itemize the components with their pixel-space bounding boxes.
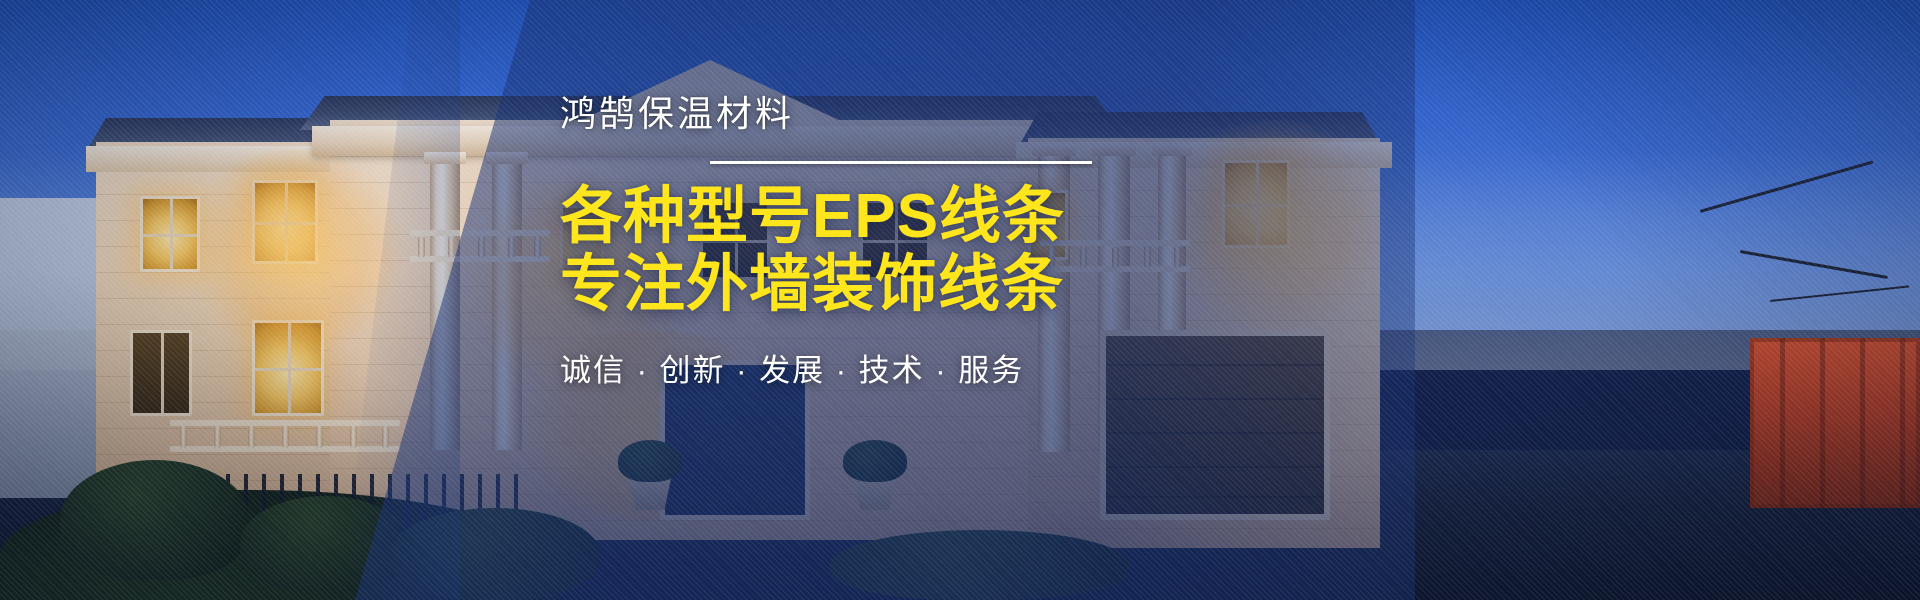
shrub (390, 508, 600, 600)
shrub (843, 440, 907, 482)
headline-line-1: 各种型号EPS线条 (560, 183, 1320, 251)
balustrade (410, 230, 550, 260)
headline: 各种型号EPS线条 专注外墙装饰线条 (560, 183, 1320, 319)
shrub (240, 496, 410, 592)
column (492, 160, 522, 450)
balustrade (170, 420, 400, 450)
tagline: 诚信 · 创新 · 发展 · 技术 · 服务 (560, 355, 1320, 386)
shrub (830, 530, 1130, 600)
red-container (1750, 338, 1920, 508)
column-capital (486, 152, 528, 164)
column-capital (424, 152, 466, 164)
brand-eyebrow: 鸿鹄保温材料 (560, 96, 1320, 132)
shrub (618, 440, 682, 482)
headline-line-2: 专注外墙装饰线条 (560, 251, 1320, 319)
divider-rule (710, 161, 1092, 164)
window-lit (140, 196, 200, 272)
window-lit (252, 320, 324, 416)
column (430, 160, 460, 450)
hero-banner: 鸿鹄保温材料 各种型号EPS线条 专注外墙装饰线条 诚信 · 创新 · 发展 ·… (0, 0, 1920, 600)
banner-copy: 鸿鹄保温材料 各种型号EPS线条 专注外墙装饰线条 诚信 · 创新 · 发展 ·… (560, 96, 1320, 386)
window-lit (252, 180, 318, 264)
shrub (60, 460, 250, 580)
window (130, 330, 192, 416)
